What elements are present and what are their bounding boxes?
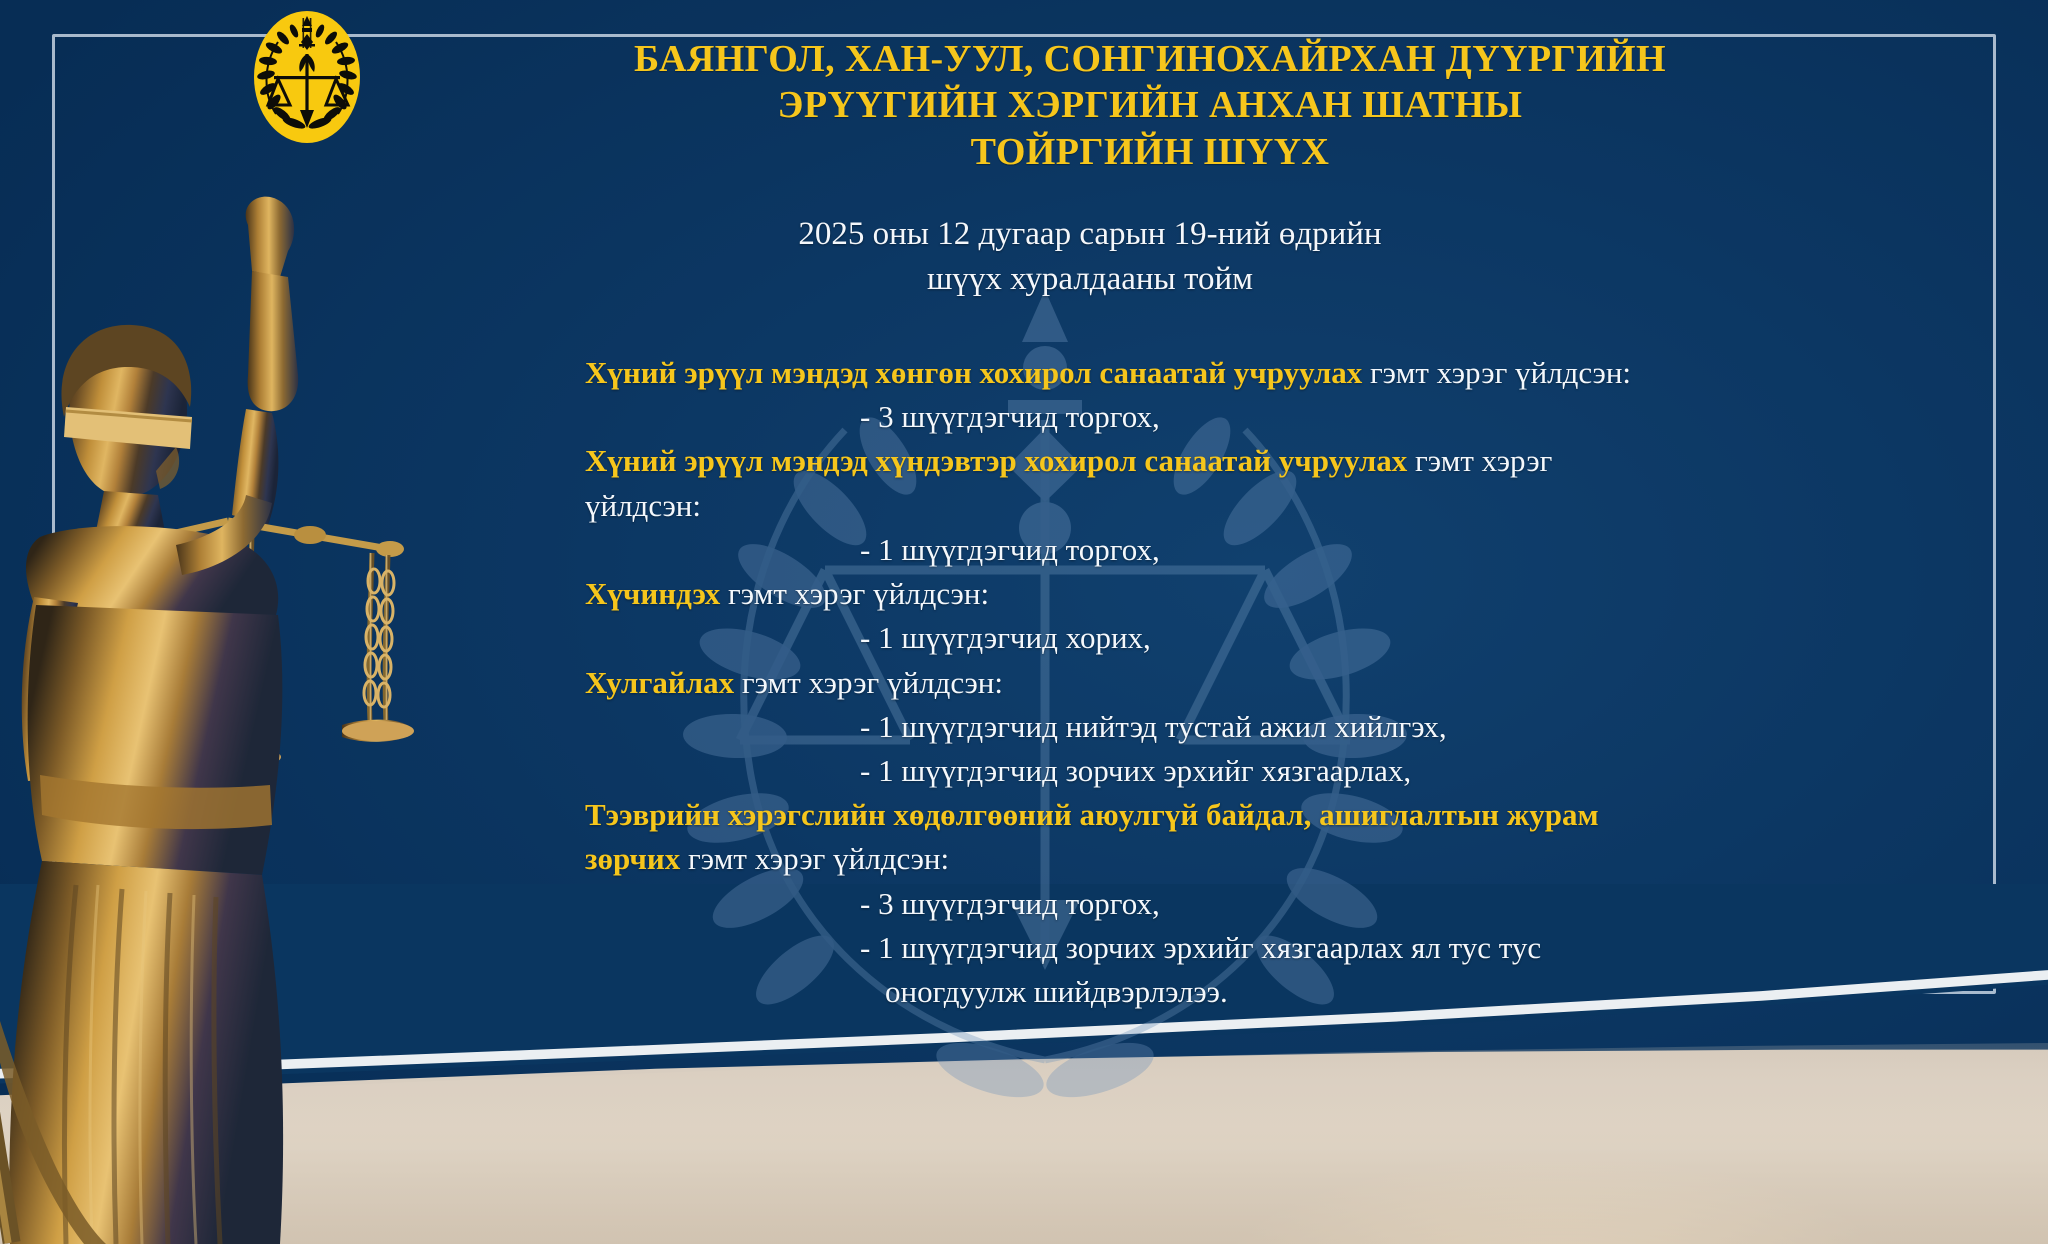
verdict-group: Хүчиндэх гэмт хэрэг үйлдсэн: - 1 шүүгдэг… [585,573,1945,658]
page-title: БАЯНГОЛ, ХАН-УУЛ, СОНГИНОХАЙРХАН ДҮҮРГИЙ… [400,36,1900,175]
verdict-group-heading-wrap: зөрчих гэмт хэрэг үйлдсэн: [585,838,1945,879]
crime-name: Тээврийн хэрэгслийн хөдөлгөөний аюулгүй … [585,797,1599,832]
crime-suffix-wrap: гэмт хэрэг үйлдсэн: [680,841,949,876]
verdict-group-heading: Хулгайлах гэмт хэрэг үйлдсэн: [585,662,1945,703]
subtitle-line-2: шүүх хуралдааны тойм [500,257,1680,302]
crime-name: Хүний эрүүл мэндэд хүндэвтэр хохирол сан… [585,443,1407,478]
verdict-group-heading-wrap: үйлдсэн: [585,485,1945,526]
subtitle-line-1: 2025 оны 12 дугаар сарын 19-ний өдрийн [500,212,1680,257]
crime-name: Хүний эрүүл мэндэд хөнгөн хохирол санаат… [585,355,1362,390]
crime-suffix: гэмт хэрэг үйлдсэн: [734,665,1003,700]
list-item: - 1 шүүгдэгчид торгох, [585,529,1945,570]
title-line-2: ЭРҮҮГИЙН ХЭРГИЙН АНХАН ШАТНЫ [400,82,1900,128]
mongolian-court-emblem-icon [252,10,362,144]
list-item: - 1 шүүгдэгчид зорчих эрхийг хязгаарлах, [585,750,1945,791]
verdict-group-heading: Хүчиндэх гэмт хэрэг үйлдсэн: [585,573,1945,614]
verdict-group: Хүний эрүүл мэндэд хүндэвтэр хохирол сан… [585,440,1945,570]
verdict-group-heading: Тээврийн хэрэгслийн хөдөлгөөний аюулгүй … [585,794,1945,835]
verdict-group-heading: Хүний эрүүл мэндэд хөнгөн хохирол санаат… [585,352,1945,393]
verdict-group: Хулгайлах гэмт хэрэг үйлдсэн: - 1 шүүгдэ… [585,662,1945,792]
crime-suffix: гэмт хэрэг үйлдсэн: [1362,355,1631,390]
verdict-group: Тээврийн хэрэгслийн хөдөлгөөний аюулгүй … [585,794,1945,1012]
session-date-subtitle: 2025 оны 12 дугаар сарын 19-ний өдрийн ш… [500,212,1680,302]
list-item: - 3 шүүгдэгчид торгох, [585,883,1945,924]
list-item: - 1 шүүгдэгчид хорих, [585,617,1945,658]
list-item: - 1 шүүгдэгчид нийтэд тустай ажил хийлгэ… [585,706,1945,747]
verdict-summary-list: Хүний эрүүл мэндэд хөнгөн хохирол санаат… [585,352,1945,1015]
verdict-group: Хүний эрүүл мэндэд хөнгөн хохирол санаат… [585,352,1945,437]
list-item: - 1 шүүгдэгчид зорчих эрхийг хязгаарлах … [585,927,1945,968]
verdict-group-heading: Хүний эрүүл мэндэд хүндэвтэр хохирол сан… [585,440,1945,481]
crime-suffix: гэмт хэрэг [1407,443,1552,478]
crime-suffix: гэмт хэрэг үйлдсэн: [720,576,989,611]
crime-name-wrap: зөрчих [585,841,680,876]
crime-name: Хулгайлах [585,665,734,700]
title-line-3: ТОЙРГИЙН ШҮҮХ [400,129,1900,175]
crime-suffix-wrap: үйлдсэн: [585,488,701,523]
list-item: оногдуулж шийдвэрлэлээ. [585,971,1945,1012]
list-item: - 3 шүүгдэгчид торгох, [585,396,1945,437]
title-line-1: БАЯНГОЛ, ХАН-УУЛ, СОНГИНОХАЙРХАН ДҮҮРГИЙ… [400,36,1900,82]
poster-canvas: БАЯНГОЛ, ХАН-УУЛ, СОНГИНОХАЙРХАН ДҮҮРГИЙ… [0,0,2048,1244]
crime-name: Хүчиндэх [585,576,720,611]
poster-header: БАЯНГОЛ, ХАН-УУЛ, СОНГИНОХАЙРХАН ДҮҮРГИЙ… [0,0,2048,210]
